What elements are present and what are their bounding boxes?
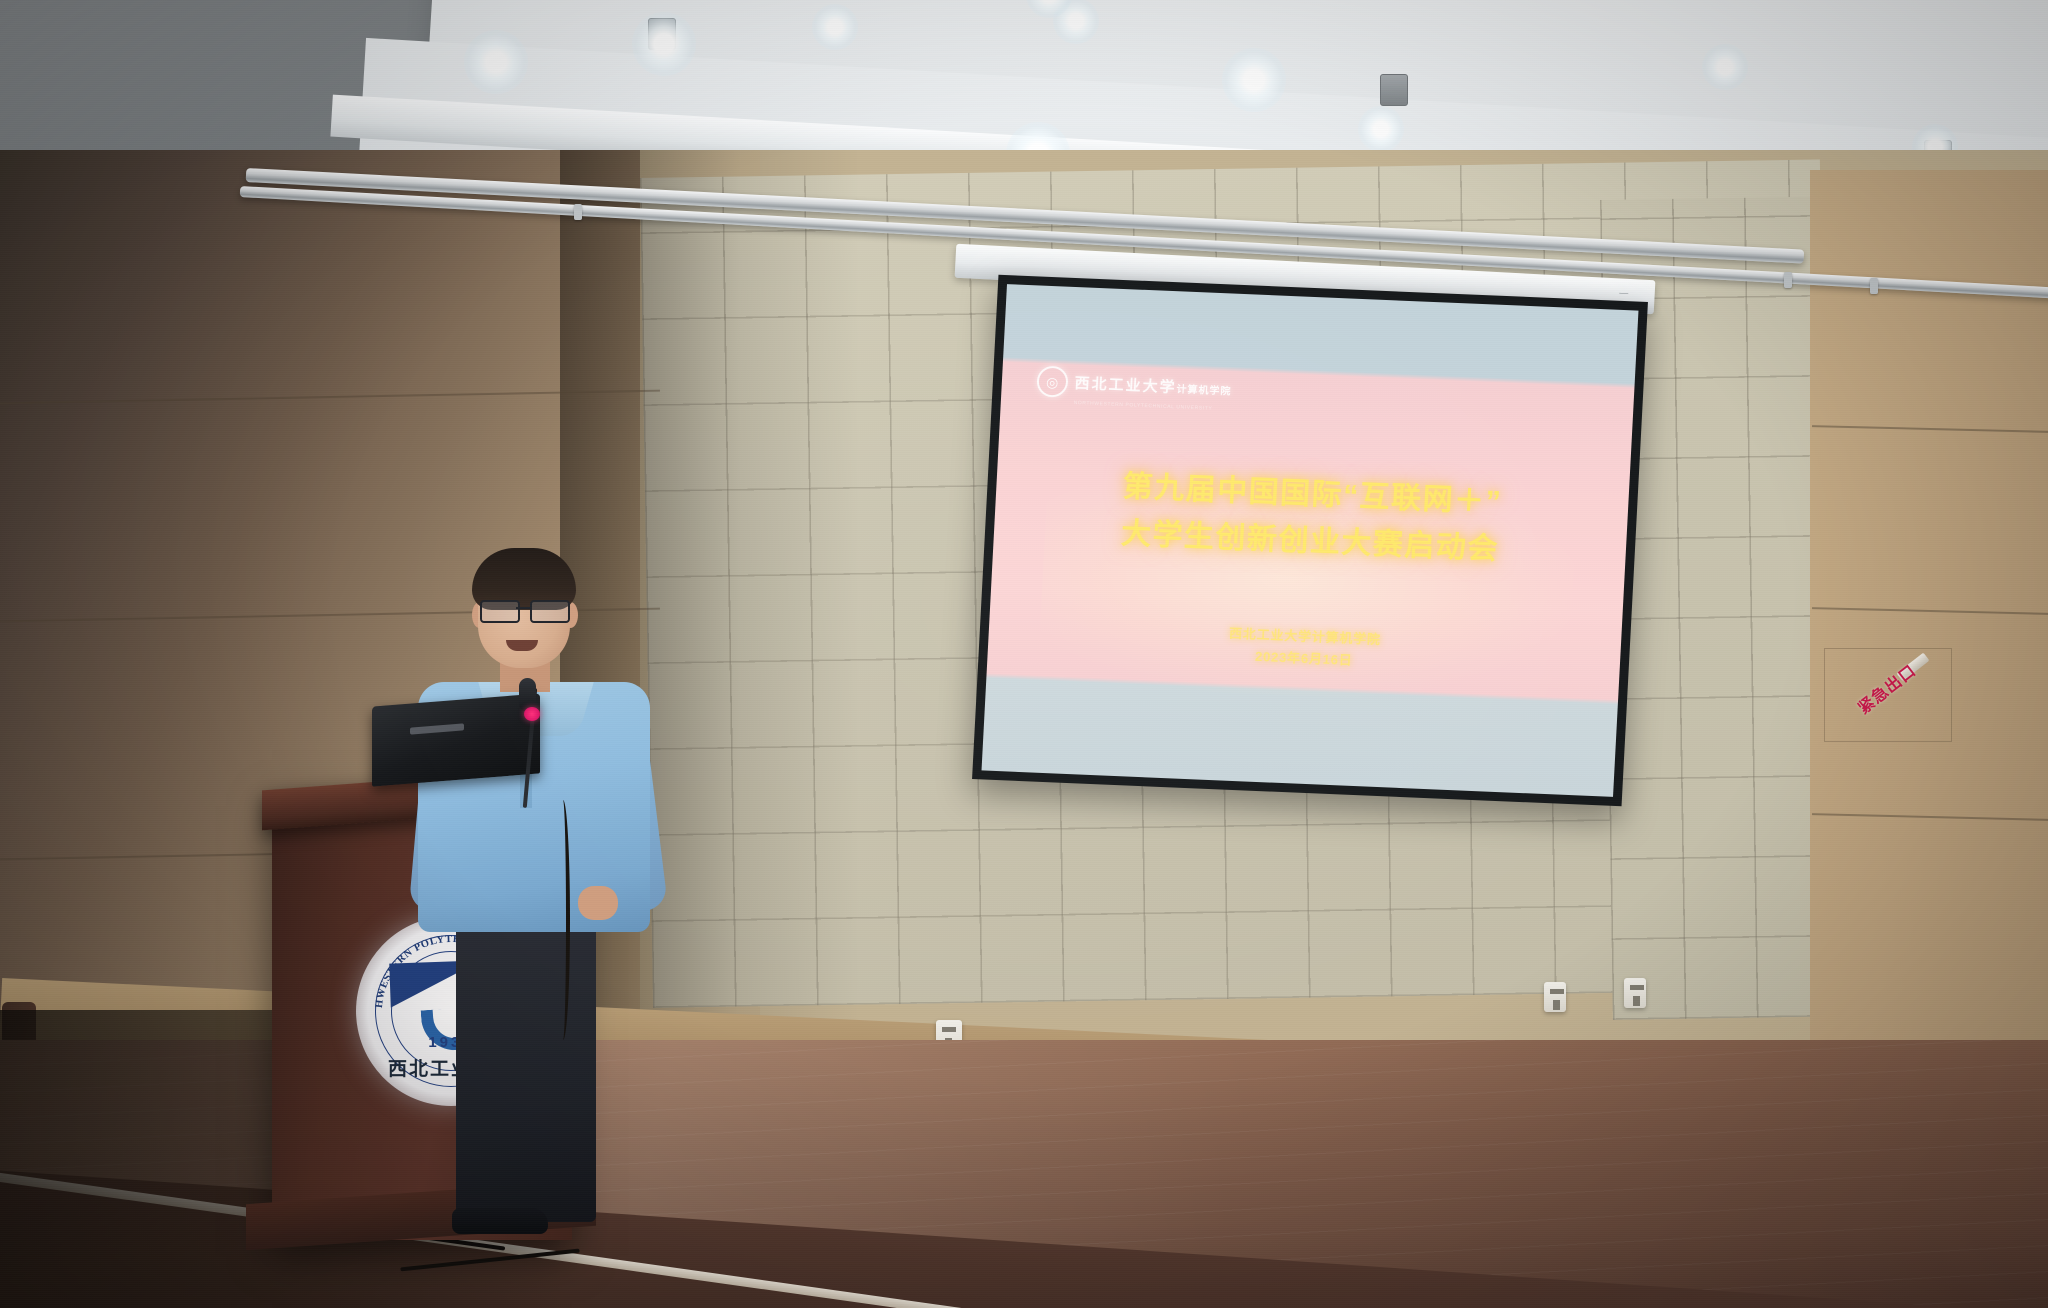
- outlet-slot-icon: [942, 1027, 956, 1032]
- presenter-glasses-icon: [480, 600, 570, 619]
- laptop-brand-logo: [410, 723, 464, 734]
- rail-hook-icon: [1784, 272, 1792, 288]
- outlet-slot-icon: [1553, 1000, 1560, 1010]
- presentation-slide: ◎ 西北工业大学计算机学院 NORTHWESTERN POLYTECHNICAL…: [982, 284, 1639, 797]
- glasses-bridge: [516, 607, 530, 609]
- rail-hook-icon: [1870, 278, 1878, 294]
- rail-hook-icon: [574, 204, 582, 220]
- emblem-glyph: ◎: [1046, 375, 1059, 389]
- presenter-shoe: [452, 1208, 548, 1234]
- outlet-slot-icon: [1633, 996, 1640, 1006]
- projection-screen[interactable]: ◎ 西北工业大学计算机学院 NORTHWESTERN POLYTECHNICAL…: [972, 275, 1648, 807]
- microphone-indicator-light: [524, 707, 540, 721]
- slide-logo-wordmark: 西北工业大学计算机学院: [1074, 372, 1232, 400]
- outlet-slot-icon: [1550, 989, 1564, 994]
- glasses-lens-right: [530, 600, 570, 623]
- slide-university-logo: ◎ 西北工业大学计算机学院 NORTHWESTERN POLYTECHNICAL…: [1036, 366, 1232, 405]
- downlight-housing-icon: [648, 18, 676, 50]
- wall-power-outlet[interactable]: [1624, 978, 1646, 1008]
- microphone-cable: [556, 800, 570, 1040]
- presenter: [430, 556, 630, 1036]
- laptop[interactable]: [372, 693, 540, 786]
- slide-logo-wordmark-cn: 西北工业大学: [1074, 375, 1177, 396]
- slide-subtitle: 西北工业大学计算机学院 2023年6月16日: [987, 612, 1621, 684]
- downlight-housing-icon: [1380, 74, 1408, 106]
- glasses-lens-left: [480, 600, 520, 623]
- university-emblem-icon: ◎: [1036, 366, 1069, 398]
- slide-title: 第九届中国国际“互联网＋” 大学生创新创业大赛启动会: [993, 459, 1629, 578]
- wall-power-outlet[interactable]: [1544, 982, 1566, 1012]
- presenter-legs: [456, 922, 596, 1222]
- screen-brand-label: —: [1619, 287, 1629, 297]
- slide-logo-wordmark-sub: 计算机学院: [1176, 385, 1232, 398]
- slide-logo-wordmark-en: NORTHWESTERN POLYTECHNICAL UNIVERSITY: [1073, 400, 1212, 412]
- presenter-hand: [578, 886, 618, 920]
- lecture-hall-photo: 紧急出口 — ◎ 西北工业大学计算机学院 NORTHWESTERN POLYTE…: [0, 0, 2048, 1308]
- outlet-slot-icon: [1630, 985, 1644, 990]
